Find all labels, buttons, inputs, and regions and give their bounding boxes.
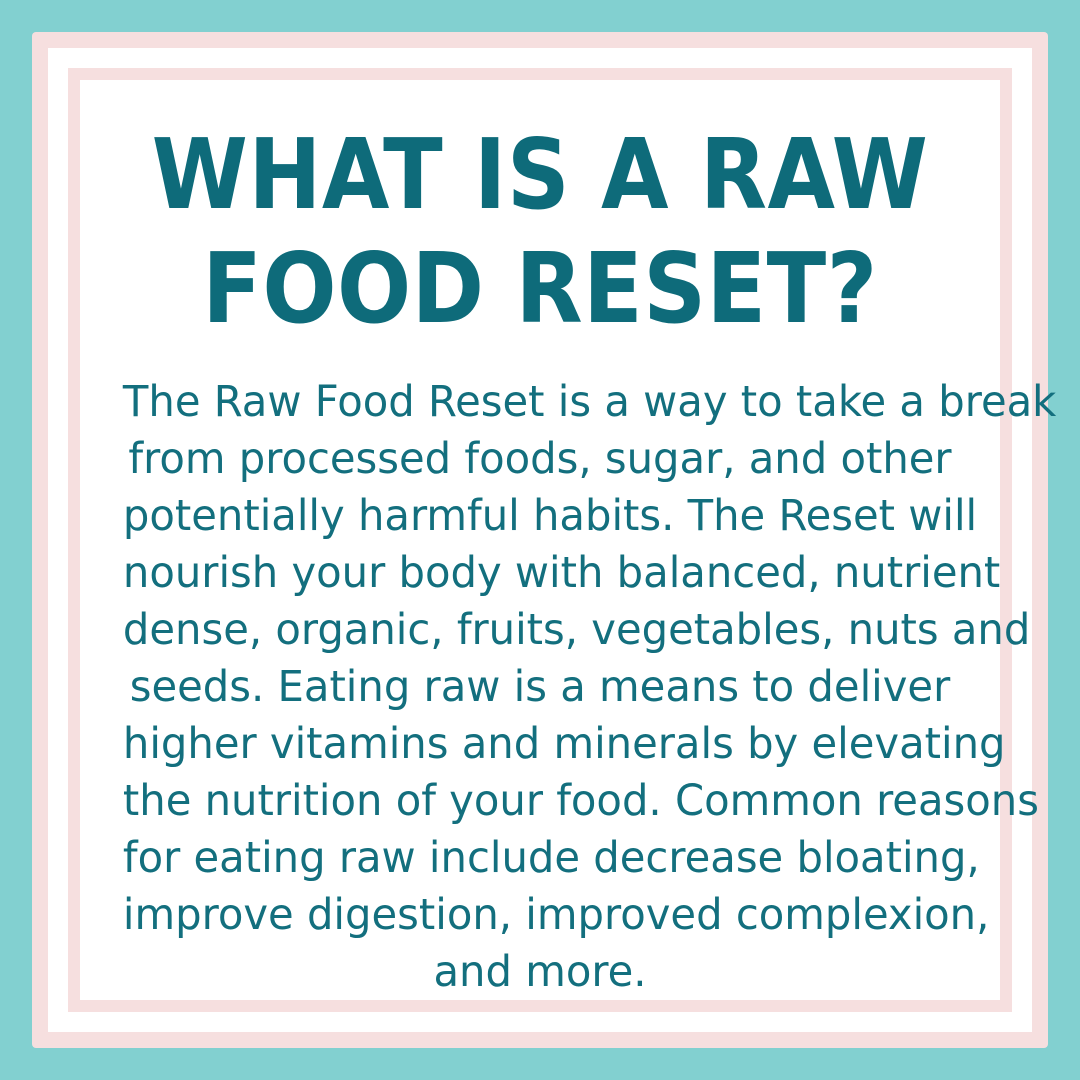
body-line: seeds. Eating raw is a means to deliver <box>123 659 957 716</box>
body-line: improve digestion, improved complexion, <box>123 887 957 944</box>
inner-pink-frame: WHAT IS A RAW FOOD RESET? The Raw Food R… <box>68 68 1012 1012</box>
body-line: the nutrition of your food. Common reaso… <box>123 773 957 830</box>
body-line: for eating raw include decrease bloating… <box>123 830 957 887</box>
body-line: potentially harmful habits. The Reset wi… <box>123 488 957 545</box>
frame-white-gap: WHAT IS A RAW FOOD RESET? The Raw Food R… <box>48 48 1032 1032</box>
title-line-2: FOOD RESET? <box>149 232 930 346</box>
body-line: and more. <box>123 944 957 1001</box>
body-line: dense, organic, fruits, vegetables, nuts… <box>123 602 957 659</box>
content-card: WHAT IS A RAW FOOD RESET? The Raw Food R… <box>80 80 1000 1000</box>
title-line-1: WHAT IS A RAW <box>149 118 930 232</box>
body-line: The Raw Food Reset is a way to take a br… <box>123 374 957 431</box>
body-line: higher vitamins and minerals by elevatin… <box>123 716 957 773</box>
body-line: from processed foods, sugar, and other <box>123 431 957 488</box>
body-paragraph: The Raw Food Reset is a way to take a br… <box>123 374 957 1001</box>
page-title: WHAT IS A RAW FOOD RESET? <box>149 118 930 346</box>
outer-pink-frame: WHAT IS A RAW FOOD RESET? The Raw Food R… <box>32 32 1048 1048</box>
body-line: nourish your body with balanced, nutrien… <box>123 545 957 602</box>
poster-canvas: WHAT IS A RAW FOOD RESET? The Raw Food R… <box>0 0 1080 1080</box>
